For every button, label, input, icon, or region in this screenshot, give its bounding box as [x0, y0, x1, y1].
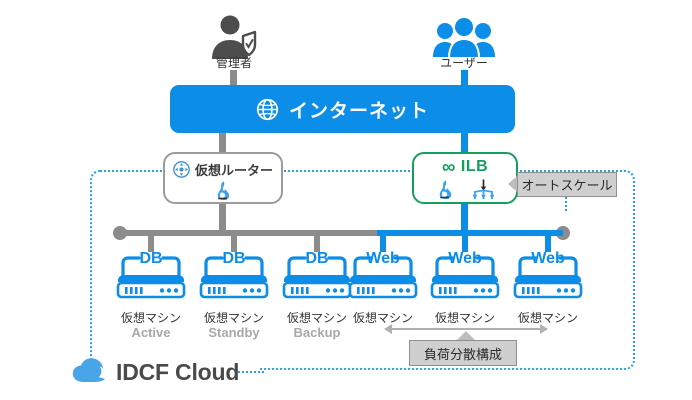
server-caption: 仮想マシン: [108, 309, 194, 326]
router-uplink-line: [219, 133, 226, 153]
load-balance-callout-arrow: [457, 331, 475, 340]
diagram-canvas: 管理者 ユーザー インターネット: [0, 0, 692, 400]
ilb-title: ∞ ILB: [412, 157, 518, 177]
server-chassis-icon: [346, 254, 420, 302]
autoscale-label: オートスケール: [521, 175, 612, 194]
internet-label: インターネット: [289, 96, 429, 123]
load-balance-arrow-right: [540, 324, 548, 334]
server-chassis-icon: [280, 254, 354, 302]
load-balance-callout: 負荷分散構成: [409, 340, 517, 366]
firewall-flame-icon: [435, 179, 456, 200]
logo-trailing-dots: [238, 371, 264, 373]
ilb-uplink-line: [461, 133, 468, 153]
ilb-downlink-line: [461, 204, 468, 234]
infinity-icon: ∞: [442, 158, 456, 177]
server-chassis-icon: [511, 254, 585, 302]
router-downlink-line: [219, 204, 226, 232]
server-state: Active: [108, 325, 194, 340]
cloud-icon: [72, 357, 116, 390]
load-balance-arrow-left: [384, 324, 392, 334]
server-chassis-icon: [114, 254, 188, 302]
virtual-router-title: 仮想ルーター: [163, 160, 283, 178]
server-chassis-icon: [428, 254, 502, 302]
load-balance-label: 負荷分散構成: [424, 344, 502, 363]
router-icon: [173, 161, 190, 178]
server-state: Backup: [274, 325, 360, 340]
server-chassis-icon: [197, 254, 271, 302]
autoscale-callout-arrow: [508, 176, 517, 192]
globe-icon: [256, 98, 279, 121]
server-caption: 仮想マシン: [422, 309, 508, 326]
autoscale-callout: オートスケール: [517, 172, 617, 197]
server-caption: 仮想マシン: [340, 309, 426, 326]
internet-banner: インターネット: [170, 85, 515, 133]
admin-label: 管理者: [194, 54, 274, 71]
bus-endpoint-left: [113, 226, 127, 240]
ilb-icons: [412, 178, 518, 200]
server-state: Standby: [191, 325, 277, 340]
firewall-flame-icon: [213, 180, 234, 201]
virtual-router-label: 仮想ルーター: [195, 160, 273, 179]
server-caption: 仮想マシン: [191, 309, 277, 326]
idcf-cloud-logo-text: IDCF Cloud: [116, 359, 239, 386]
users-label: ユーザー: [424, 54, 504, 71]
virtual-router-icons: [163, 180, 283, 200]
load-balancer-icon: [472, 179, 495, 200]
web-tier-bus-segment: [377, 230, 563, 236]
autoscale-dotted-connector: [565, 197, 567, 211]
server-caption: 仮想マシン: [505, 309, 591, 326]
load-balance-span-line: [392, 328, 540, 330]
ilb-label: ILB: [461, 158, 488, 176]
